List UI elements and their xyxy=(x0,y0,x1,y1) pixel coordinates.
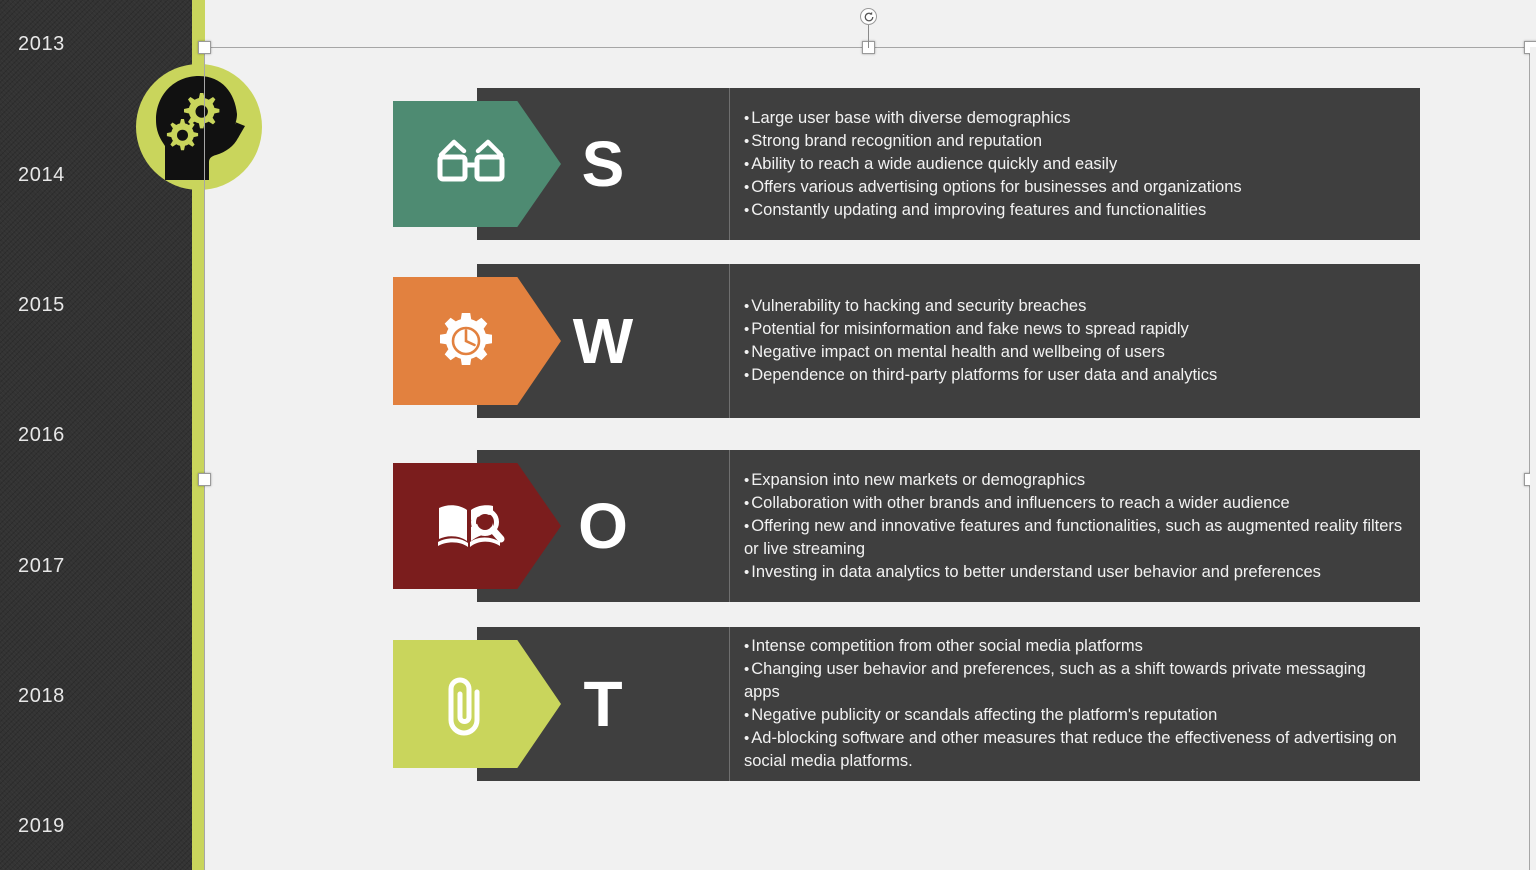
swot-bullets-strengths: Large user base with diverse demographic… xyxy=(730,88,1420,240)
glasses-icon xyxy=(437,138,505,190)
swot-body-strengths: SLarge user base with diverse demographi… xyxy=(477,88,1420,240)
timeline-year: 2013 xyxy=(18,33,65,56)
swot-letter: T xyxy=(583,672,622,736)
timeline-year: 2016 xyxy=(18,424,65,447)
timeline-year: 2014 xyxy=(18,164,65,187)
swot-row-opportunities[interactable]: OExpansion into new markets or demograph… xyxy=(477,450,1420,602)
timeline-year: 2015 xyxy=(18,294,65,317)
swot-bullet: Intense competition from other social me… xyxy=(744,635,1404,658)
gear-clock-icon xyxy=(437,312,495,370)
swot-bullet: Negative publicity or scandals affecting… xyxy=(744,704,1404,727)
swot-bullet: Ad-blocking software and other measures … xyxy=(744,727,1404,773)
swot-bullet: Constantly updating and improving featur… xyxy=(744,199,1404,222)
swot-letter: W xyxy=(573,309,633,373)
swot-bullet: Investing in data analytics to better un… xyxy=(744,561,1404,584)
book-search-icon xyxy=(437,501,505,551)
selection-handle-middle-left[interactable] xyxy=(198,473,211,486)
rotate-handle-stem xyxy=(868,24,869,48)
swot-bullet: Offers various advertising options for b… xyxy=(744,176,1404,199)
swot-bullet: Large user base with diverse demographic… xyxy=(744,107,1404,130)
timeline-year: 2019 xyxy=(18,815,65,838)
swot-body-threats: TIntense competition from other social m… xyxy=(477,627,1420,781)
swot-bullets-threats: Intense competition from other social me… xyxy=(730,627,1420,781)
swot-body-opportunities: OExpansion into new markets or demograph… xyxy=(477,450,1420,602)
swot-letter: S xyxy=(582,132,625,196)
slide-canvas: 2013201420152016201720182019 SLarge user… xyxy=(0,0,1536,870)
swot-bullet: Changing user behavior and preferences, … xyxy=(744,658,1404,704)
swot-bullet: Offering new and innovative features and… xyxy=(744,515,1404,561)
swot-bullet: Vulnerability to hacking and security br… xyxy=(744,295,1404,318)
swot-bullet: Ability to reach a wide audience quickly… xyxy=(744,153,1404,176)
swot-row-strengths[interactable]: SLarge user base with diverse demographi… xyxy=(477,88,1420,240)
swot-bullets-opportunities: Expansion into new markets or demographi… xyxy=(730,450,1420,602)
swot-bullet: Collaboration with other brands and infl… xyxy=(744,492,1404,515)
swot-bullet: Potential for misinformation and fake ne… xyxy=(744,318,1404,341)
right-gutter xyxy=(1530,47,1536,870)
swot-row-threats[interactable]: TIntense competition from other social m… xyxy=(477,627,1420,781)
swot-bullets-weaknesses: Vulnerability to hacking and security br… xyxy=(730,264,1420,418)
timeline-year: 2018 xyxy=(18,685,65,708)
paperclip-icon xyxy=(437,670,493,738)
swot-letter: O xyxy=(578,494,628,558)
swot-bullet: Strong brand recognition and reputation xyxy=(744,130,1404,153)
swot-row-weaknesses[interactable]: WVulnerability to hacking and security b… xyxy=(477,264,1420,418)
head-gears-icon xyxy=(134,62,264,192)
timeline-year: 2017 xyxy=(18,555,65,578)
swot-body-weaknesses: WVulnerability to hacking and security b… xyxy=(477,264,1420,418)
selection-handle-top-left[interactable] xyxy=(198,41,211,54)
rotate-handle-icon[interactable] xyxy=(860,8,877,25)
swot-bullet: Negative impact on mental health and wel… xyxy=(744,341,1404,364)
swot-bullet: Dependence on third-party platforms for … xyxy=(744,364,1404,387)
swot-bullet: Expansion into new markets or demographi… xyxy=(744,469,1404,492)
